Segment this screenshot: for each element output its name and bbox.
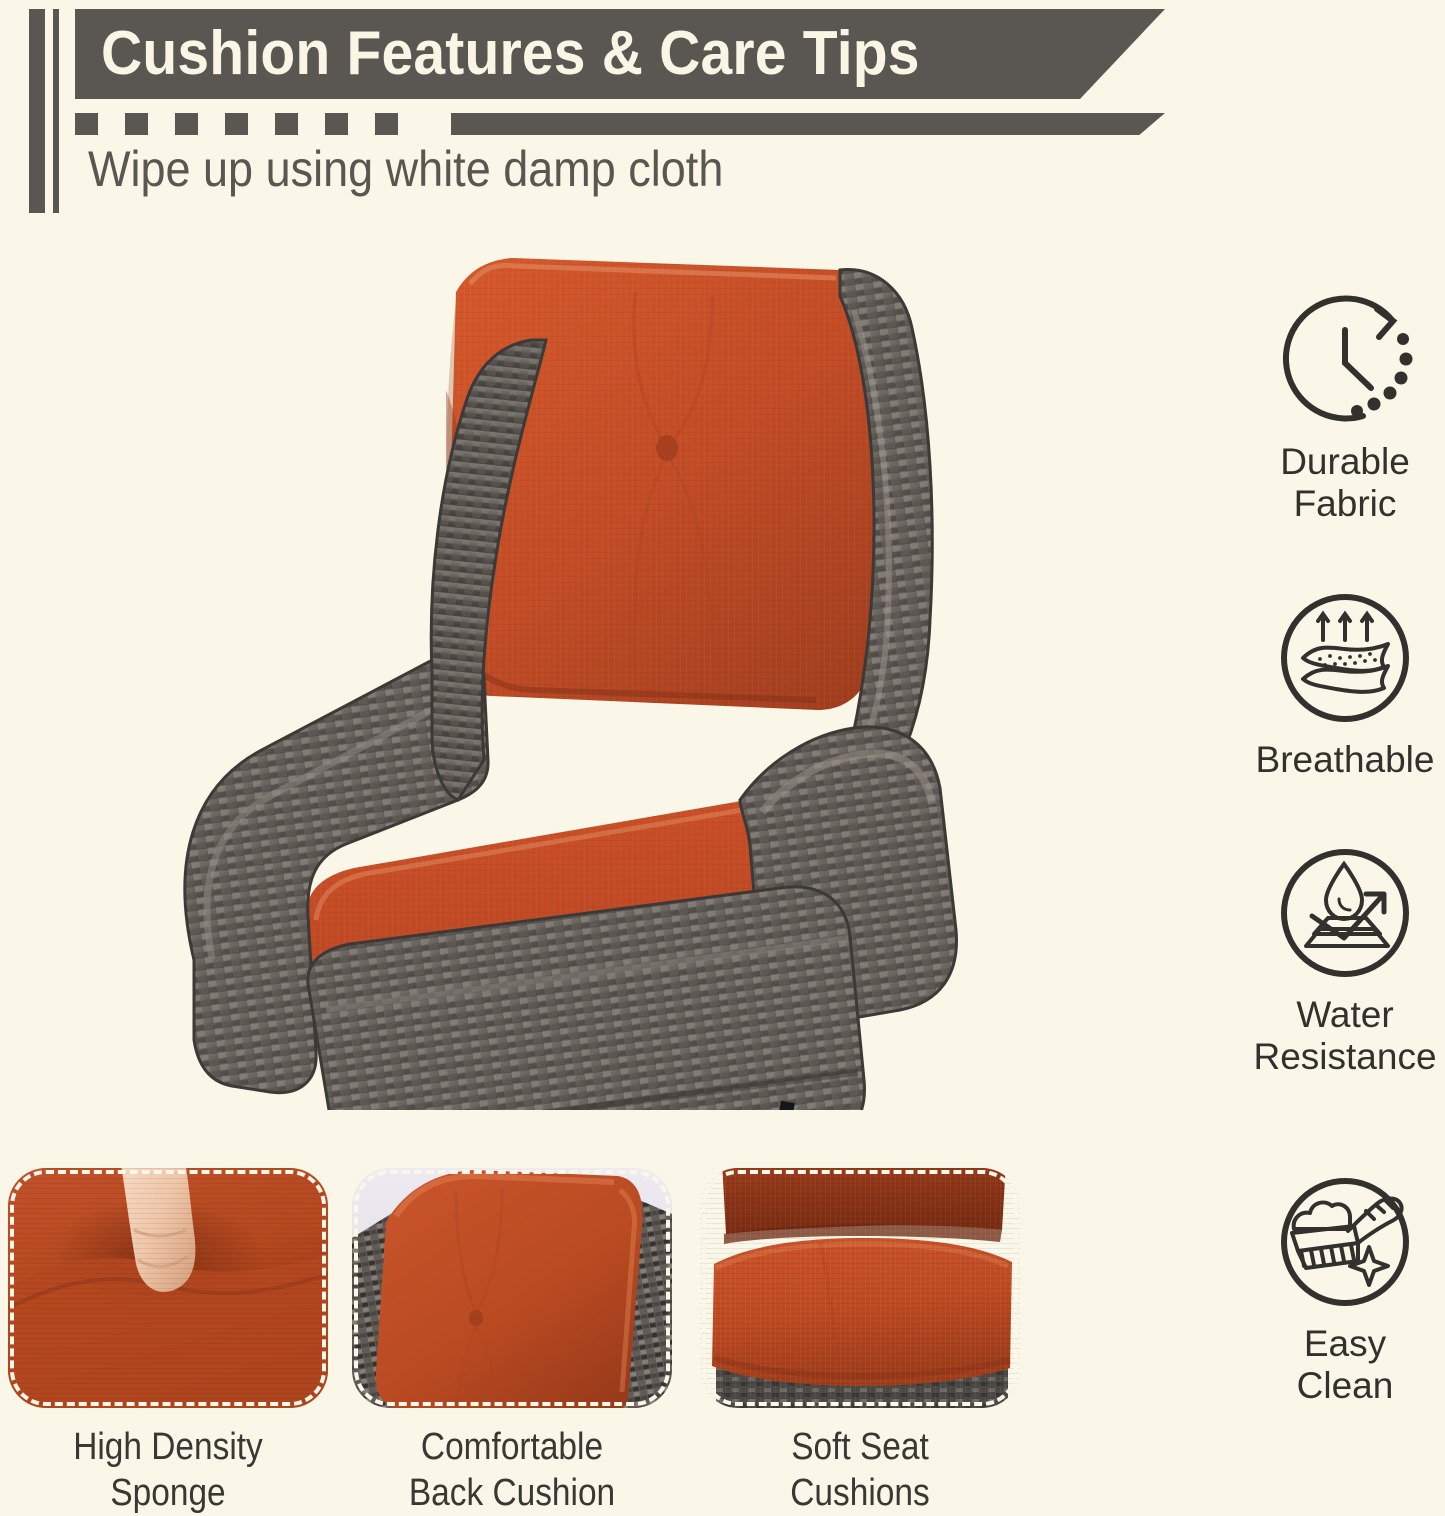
clock-arrow-icon <box>1270 285 1420 435</box>
thumbnail-caption: High Density Sponge <box>27 1424 309 1516</box>
header-accent-bar-thick <box>29 9 45 213</box>
page-title: Cushion Features & Care Tips <box>101 23 920 85</box>
thumbnail-comfortable-back-cushion: Comfortable Back Cushion <box>352 1168 672 1408</box>
thumbnail-image <box>8 1168 328 1408</box>
rule-dash <box>125 113 148 135</box>
thumbnail-image <box>352 1168 672 1408</box>
infographic-canvas: Cushion Features & Care Tips Wipe up usi… <box>0 0 1445 1488</box>
thumbnail-caption: Comfortable Back Cushion <box>371 1424 653 1516</box>
feature-label: Breathable <box>1256 739 1435 781</box>
detail-thumbnail-row: High Density Sponge <box>0 1168 1030 1488</box>
rule-dash <box>375 113 398 135</box>
rule-solid-segment <box>451 113 1165 135</box>
feature-durable-fabric: Durable Fabric <box>1245 285 1445 525</box>
feature-water-resistance: Water Resistance <box>1245 838 1445 1078</box>
thumbnail-high-density-sponge: High Density Sponge <box>8 1168 328 1408</box>
feature-easy-clean: Easy Clean <box>1245 1167 1445 1407</box>
rule-dash <box>275 113 298 135</box>
feature-breathable: Breathable <box>1245 583 1445 781</box>
header-subtitle: Wipe up using white damp cloth <box>88 140 723 198</box>
header-accent-bar-thin <box>53 9 59 213</box>
brush-sparkle-icon <box>1270 1167 1420 1317</box>
thumbnail-image <box>700 1168 1020 1408</box>
product-hero-image <box>140 240 970 1110</box>
breathable-fabric-icon <box>1270 583 1420 733</box>
rule-dash <box>175 113 198 135</box>
feature-label: Easy Clean <box>1297 1323 1394 1407</box>
water-droplet-repel-icon <box>1270 838 1420 988</box>
rule-dash <box>225 113 248 135</box>
header-divider-rule <box>75 113 1170 135</box>
header-banner: Cushion Features & Care Tips <box>75 9 1165 99</box>
thumbnail-caption: Soft Seat Cushions <box>719 1424 1001 1516</box>
rule-dash <box>75 113 98 135</box>
rule-dash <box>325 113 348 135</box>
thumbnail-soft-seat-cushions: Soft Seat Cushions <box>700 1168 1020 1408</box>
feature-label: Durable Fabric <box>1280 441 1410 525</box>
feature-label: Water Resistance <box>1253 994 1436 1078</box>
